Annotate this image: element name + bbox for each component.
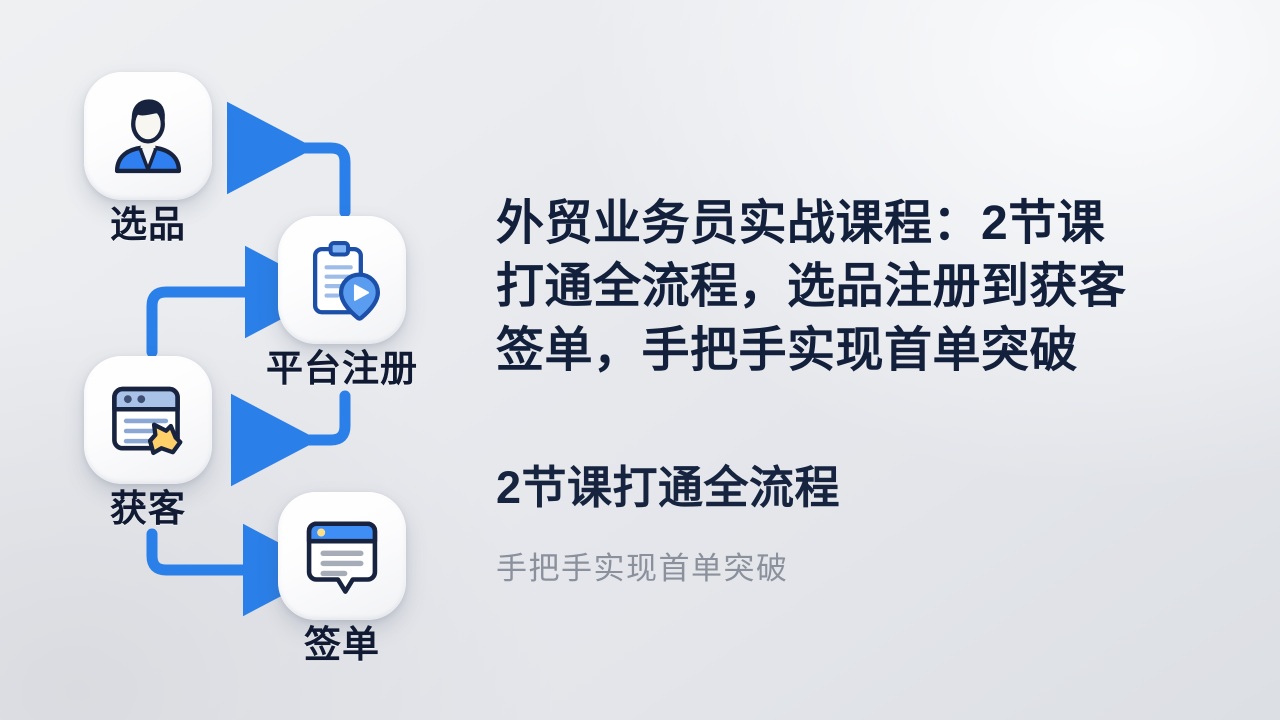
browser-window-cursor-icon [105, 377, 191, 463]
connector-huoke-to-qiandan [152, 534, 254, 570]
flow-node-label: 平台注册 [266, 350, 418, 387]
sub-caption: 手把手实现首单突破 [496, 550, 789, 587]
icon-tile [278, 216, 406, 344]
flow-node-qiandan[interactable]: 签单 [278, 492, 406, 620]
icon-tile [84, 356, 212, 484]
flow-node-huoke[interactable]: 获客 [84, 356, 212, 484]
chat-bubble-document-icon [299, 513, 385, 599]
connector-pingtai-to-huoke [242, 396, 345, 440]
workflow-diagram: 选品 平台注册 [0, 0, 470, 720]
clipboard-location-pin-icon [299, 237, 385, 323]
flow-node-label: 选品 [110, 206, 186, 243]
headline-line-2: 打通全流程，选品注册到获客 [496, 255, 1244, 318]
headline-line-1: 外贸业务员实战课程：2节课 [496, 192, 1244, 255]
connector-pingtai-to-xuanpin [238, 148, 345, 212]
headline-line-3: 签单，手把手实现首单突破 [496, 319, 1244, 382]
text-column: 外贸业务员实战课程：2节课 打通全流程，选品注册到获客 签单，手把手实现首单突破… [496, 0, 1256, 720]
flow-node-label: 获客 [110, 490, 186, 527]
icon-tile [84, 72, 212, 200]
businessman-avatar-icon [105, 93, 191, 179]
slide-canvas: 选品 平台注册 [0, 0, 1280, 720]
subheadline: 2节课打通全流程 [496, 462, 840, 514]
headline: 外贸业务员实战课程：2节课 打通全流程，选品注册到获客 签单，手把手实现首单突破 [496, 192, 1244, 382]
flow-node-xuanpin[interactable]: 选品 [84, 72, 212, 200]
flow-node-label: 签单 [304, 626, 380, 663]
flow-node-pingtai[interactable]: 平台注册 [278, 216, 406, 344]
connector-huoke-to-pingtai [152, 292, 256, 352]
icon-tile [278, 492, 406, 620]
